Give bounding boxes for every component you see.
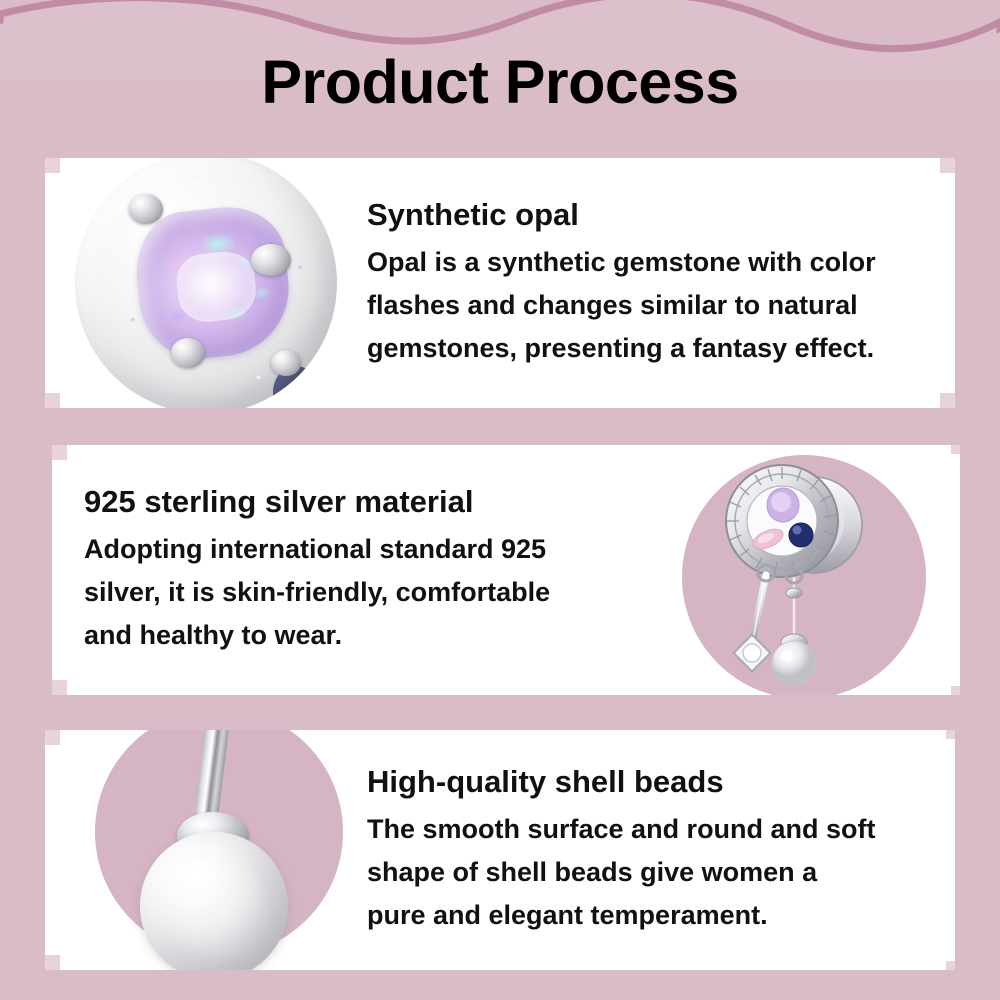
pearl-shell-bead-image: [45, 730, 367, 970]
card-body: The smooth surface and round and soft sh…: [367, 808, 931, 936]
card-copy: Synthetic opal Opal is a synthetic gemst…: [367, 197, 955, 370]
silver-prong: [129, 194, 163, 224]
card-heading: 925 sterling silver material: [84, 484, 660, 521]
card-body-line: Opal is a synthetic gemstone with color: [367, 241, 927, 284]
page-title: Product Process: [0, 50, 1000, 114]
feature-card-synthetic-opal: Synthetic opal Opal is a synthetic gemst…: [45, 158, 955, 408]
silver-moon-pendant-image: [660, 445, 960, 695]
card-body-line: silver, it is skin-friendly, comfortable: [84, 571, 660, 614]
opal-stage: [75, 158, 337, 408]
card-body: Adopting international standard 925 silv…: [84, 528, 660, 656]
product-process-infographic: Product Process: [0, 0, 1000, 1000]
shell-pearl-bead: [140, 832, 288, 970]
card-body-line: gemstones, presenting a fantasy effect.: [367, 327, 927, 370]
silver-prong: [271, 350, 301, 376]
feature-card-sterling-silver: 925 sterling silver material Adopting in…: [52, 445, 960, 695]
card-copy: High-quality shell beads The smooth surf…: [367, 764, 955, 937]
card-body-line: pure and elegant temperament.: [367, 894, 931, 937]
card-heading: High-quality shell beads: [367, 764, 931, 801]
card-body-line: flashes and changes similar to natural: [367, 284, 927, 327]
card-body-line: Adopting international standard 925: [84, 528, 660, 571]
silver-prong: [251, 244, 291, 276]
card-copy: 925 sterling silver material Adopting in…: [52, 484, 660, 657]
feature-card-shell-beads: High-quality shell beads The smooth surf…: [45, 730, 955, 970]
card-body-line: shape of shell beads give women a: [367, 851, 931, 894]
card-body-line: and healthy to wear.: [84, 614, 660, 657]
opal-gemstone-macro-image: [45, 158, 367, 408]
moon-pendant-illustration: [682, 455, 926, 695]
opal-gem: [131, 202, 296, 365]
silver-prong: [171, 338, 205, 368]
card-body-line: The smooth surface and round and soft: [367, 808, 931, 851]
card-body: Opal is a synthetic gemstone with color …: [367, 241, 927, 369]
card-heading: Synthetic opal: [367, 197, 927, 234]
